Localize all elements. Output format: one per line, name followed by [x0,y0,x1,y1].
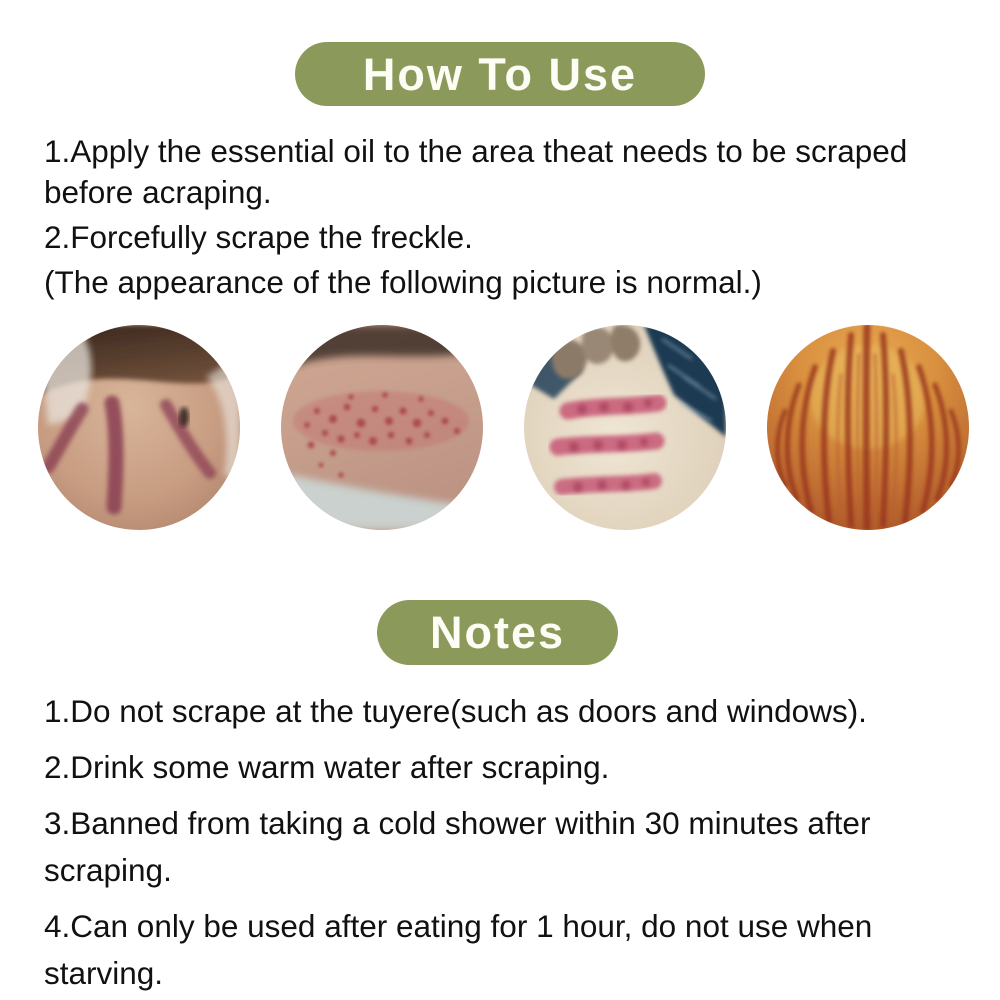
note-item-4: 4.Can only be used after eating for 1 ho… [44,903,964,997]
photo-back-with-radiating-red-streaks [767,325,969,530]
note-item-2: 2.Drink some warm water after scraping. [44,744,964,791]
note-item-3: 3.Banned from taking a cold shower withi… [44,800,964,894]
how-to-use-note-normal: (The appearance of the following picture… [44,262,964,303]
how-to-use-steps: 1.Apply the essential oil to the area th… [44,131,964,307]
how-to-use-step-2: 2.Forcefully scrape the freckle. [44,217,964,258]
how-to-use-banner: How To Use [295,42,705,106]
photo-neck-back-with-vertical-scrape-marks [38,325,240,530]
note-item-1: 1.Do not scrape at the tuyere(such as do… [44,688,964,735]
photo-skin-with-red-petechiae-band [281,325,483,530]
instruction-graphic: How To Use 1.Apply the essential oil to … [0,0,1000,1000]
how-to-use-step-1: 1.Apply the essential oil to the area th… [44,131,964,213]
photo-1-image [38,325,240,530]
photo-2-image [281,325,483,530]
notes-list: 1.Do not scrape at the tuyere(such as do… [44,688,964,1000]
photo-4-image [767,325,969,530]
example-photo-row [0,325,1000,530]
photo-3-image [524,325,726,530]
notes-banner: Notes [377,600,618,665]
photo-back-with-three-horizontal-scrape-bands [524,325,726,530]
